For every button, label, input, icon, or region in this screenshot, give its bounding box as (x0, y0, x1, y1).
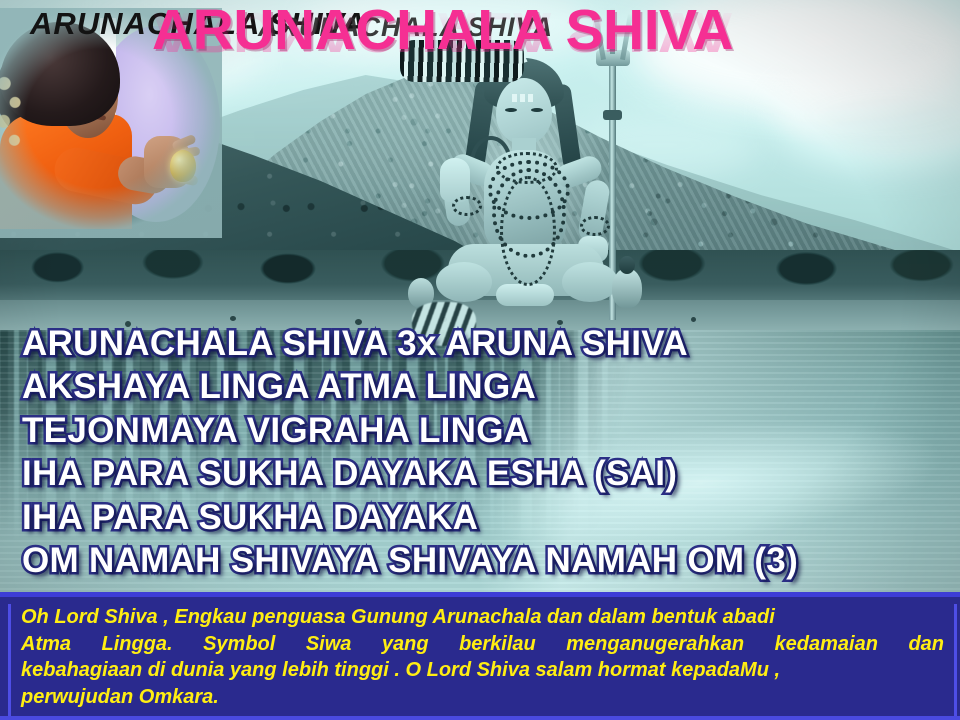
translation-word: Atma (21, 631, 71, 658)
shiva-knee (562, 262, 618, 302)
rudraksha-mala (500, 176, 556, 286)
lyric-line: OM NAMAH SHIVAYA SHIVAYA NAMAH OM (3) (0, 539, 960, 582)
translation-word: berkilau (459, 631, 536, 658)
lyric-line: IHA PARA SUKHA DAYAKA (0, 496, 960, 539)
translation-word: dan (908, 631, 944, 658)
shiva-armlet (580, 216, 610, 236)
tilak-mark (512, 94, 536, 102)
lord-shiva-figure (400, 40, 650, 340)
golden-lingam-icon (170, 150, 196, 182)
lyrics-block: ARUNACHALA SHIVA 3x ARUNA SHIVA AKSHAYA … (0, 322, 960, 582)
translation-word: yang (382, 631, 429, 658)
translation-word: menganugerahkan (566, 631, 744, 658)
translation-line: kebahagiaan di dunia yang lebih tinggi .… (21, 657, 944, 684)
shiva-knee (436, 262, 492, 302)
translation-panel: Oh Lord Shiva , Engkau penguasa Gunung A… (0, 592, 960, 720)
lyric-line: AKSHAYA LINGA ATMA LINGA (0, 365, 960, 408)
shiva-foot (496, 284, 554, 306)
translation-line: Oh Lord Shiva , Engkau penguasa Gunung A… (21, 604, 944, 631)
shiva-eye (505, 108, 517, 112)
translation-word: kedamaian (775, 631, 878, 658)
shiva-armlet (452, 196, 482, 216)
translation-word: Symbol (203, 631, 275, 658)
shiva-head (496, 78, 552, 144)
lyric-line: TEJONMAYA VIGRAHA LINGA (0, 409, 960, 452)
translation-word: Lingga. (102, 631, 173, 658)
lyric-line: IHA PARA SUKHA DAYAKA ESHA (SAI) (0, 452, 960, 495)
shiva-eye (531, 108, 543, 112)
translation-line: perwujudan Omkara. (21, 684, 944, 711)
flower-garland (0, 68, 28, 154)
translation-panel-inner: Oh Lord Shiva , Engkau penguasa Gunung A… (8, 604, 957, 716)
lingam-stone (619, 256, 635, 274)
page-title: ARUNACHALA SHIVA (152, 2, 733, 59)
translation-word: Siwa (306, 631, 352, 658)
lingam-vessel (612, 268, 642, 308)
trishula-binding (603, 110, 622, 120)
translation-line: Atma Lingga. Symbol Siwa yang berkilau m… (21, 631, 944, 658)
shore-figure (230, 316, 236, 321)
lyric-line: ARUNACHALA SHIVA 3x ARUNA SHIVA (0, 322, 960, 365)
slide-canvas: ARUNACHALA SHIVA ARUNACHALA SHIVA ARUNAC… (0, 0, 960, 720)
